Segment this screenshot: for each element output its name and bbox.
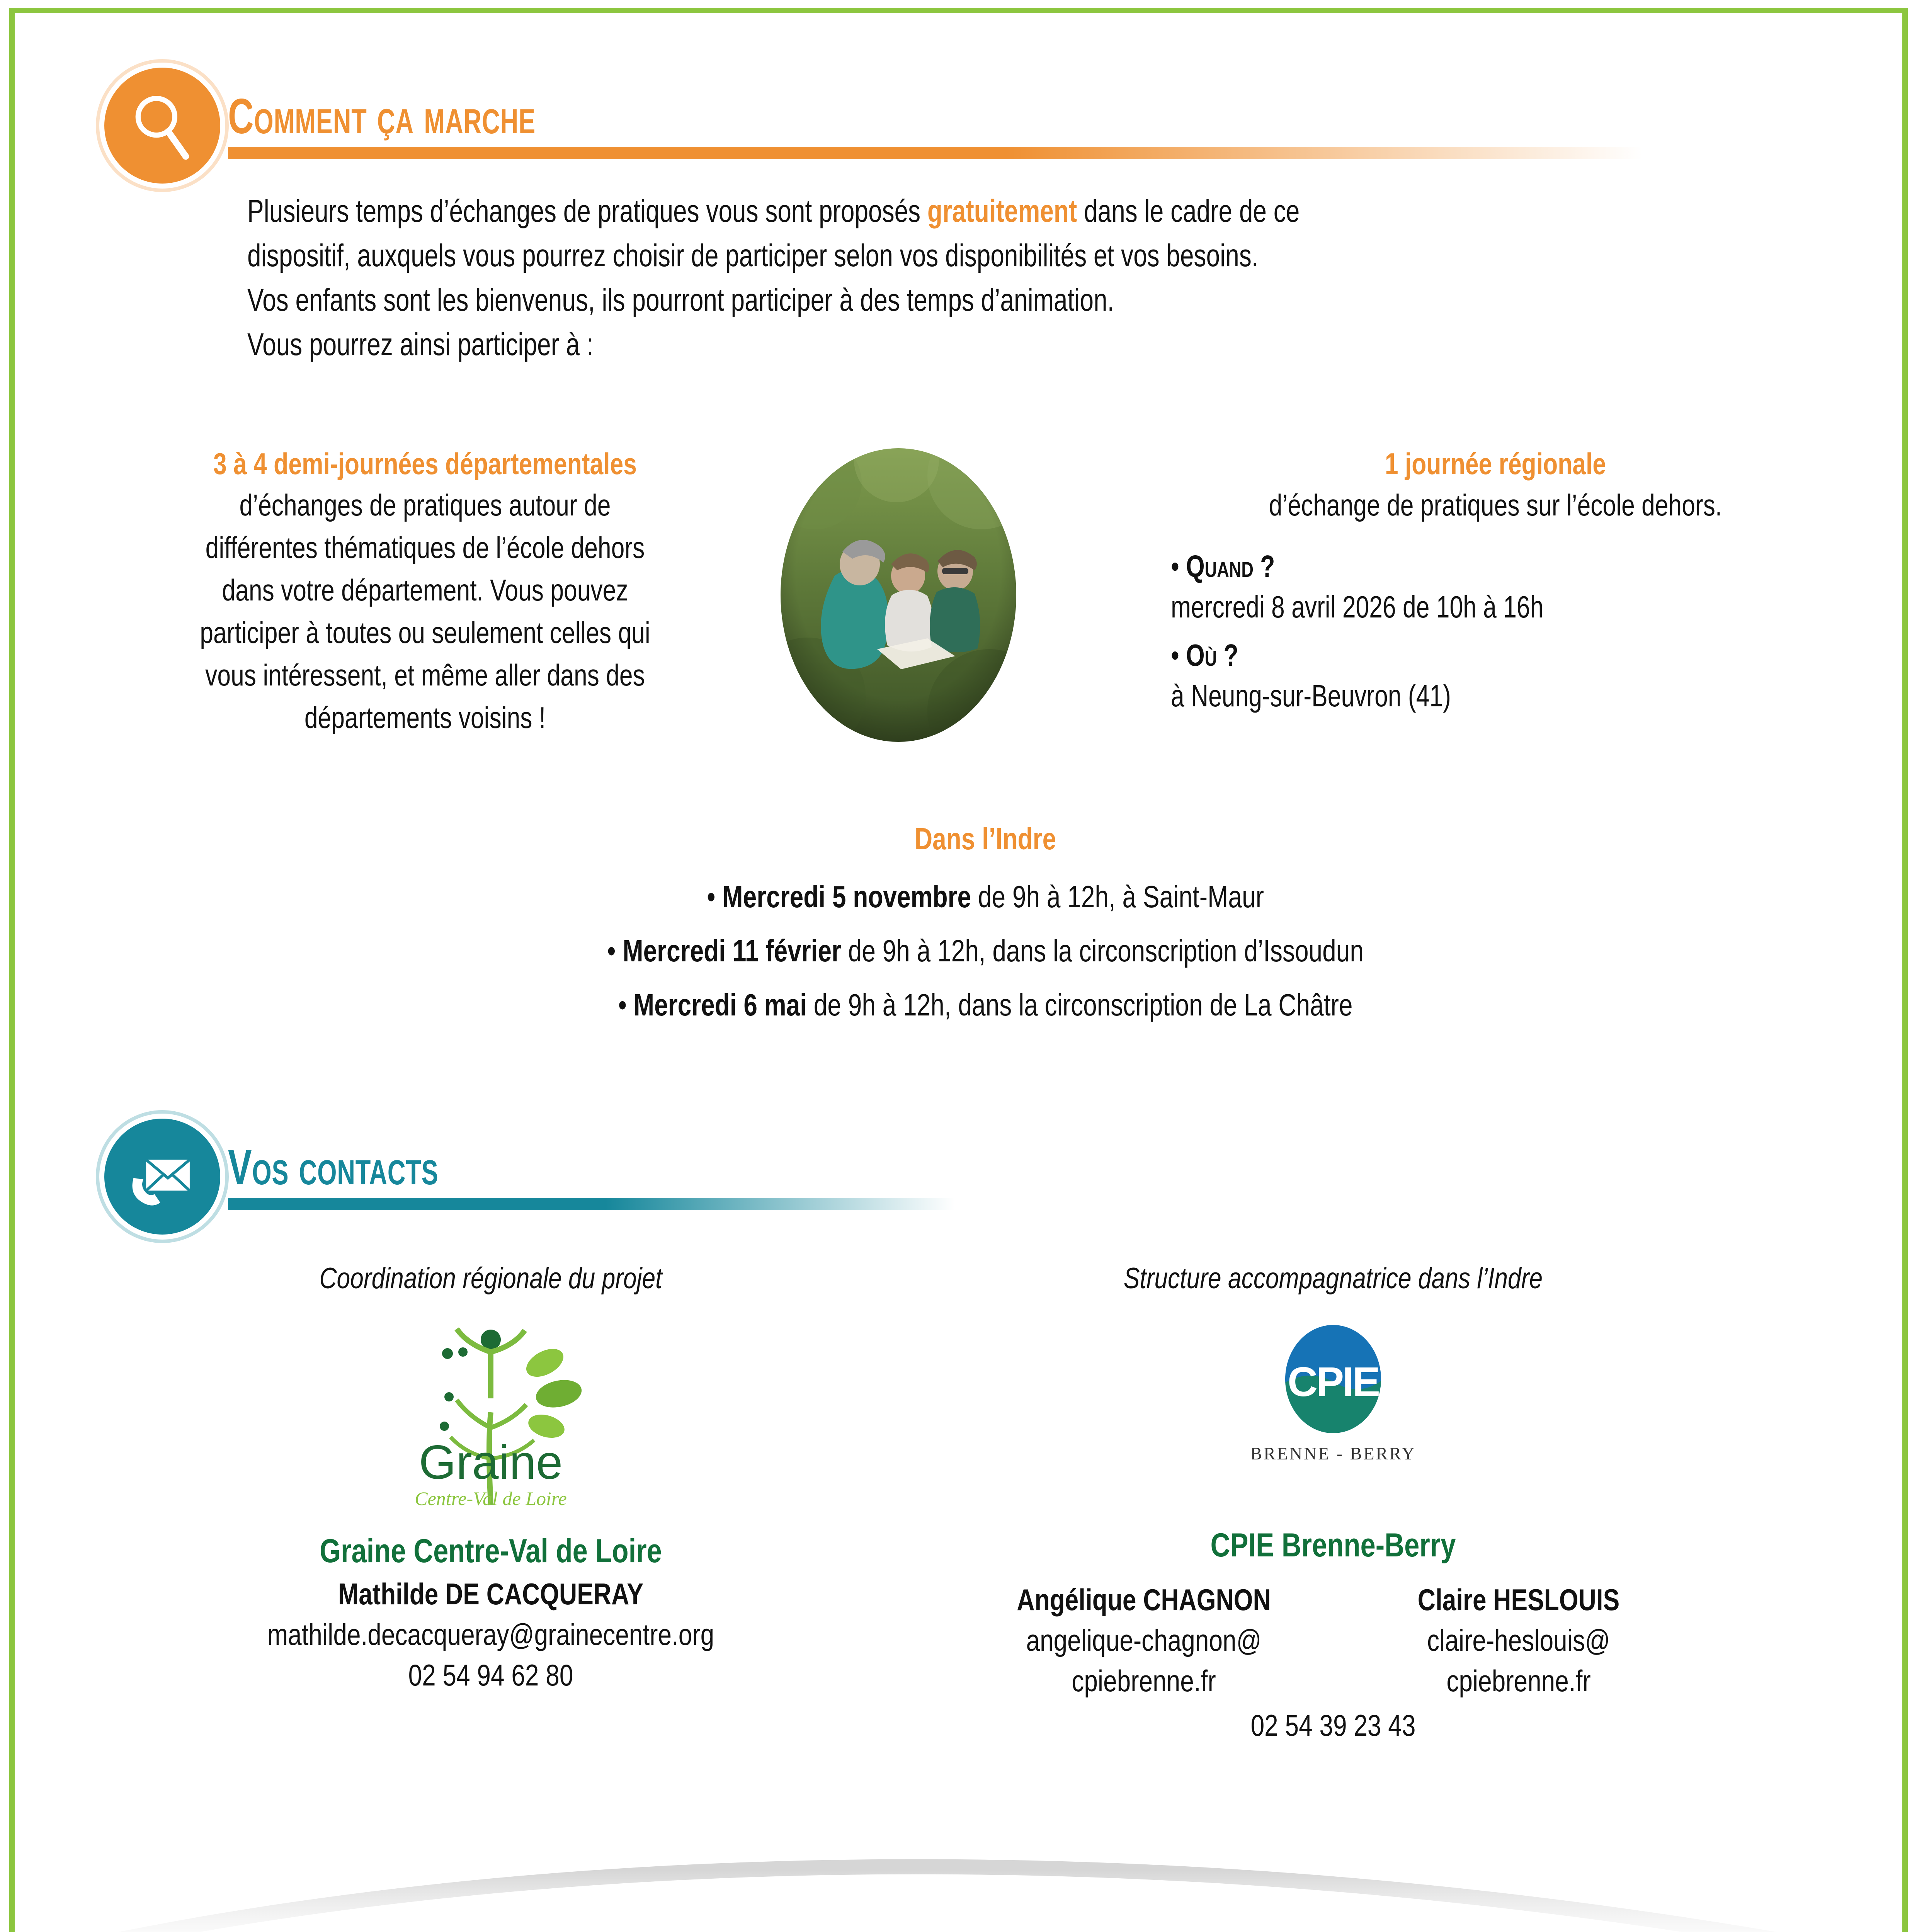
- left-block-line-5: départements voisins !: [304, 700, 546, 735]
- contacts-left-person-email[interactable]: mathilde.decacqueray@grainecentre.org: [267, 1617, 714, 1652]
- contacts-right-person-0-email-line2[interactable]: cpiebrenne.fr: [1072, 1663, 1216, 1699]
- contacts-left-role: Coordination régionale du projet: [320, 1262, 662, 1295]
- cpie-brenne-berry-logo: CPIE BRENNE - BERRY: [1233, 1321, 1434, 1488]
- right-block-item-1-label: • Où ?: [1171, 638, 1238, 673]
- page-border-right: [1902, 8, 1908, 1932]
- right-block-item-1-value: à Neung-sur-Beuvron (41): [1171, 678, 1451, 714]
- bullet-icon: •: [1171, 549, 1186, 583]
- svg-text:BRENNE - BERRY: BRENNE - BERRY: [1252, 1444, 1414, 1463]
- left-block-line-1: différentes thématiques de l’école dehor…: [206, 530, 645, 565]
- intro-line-1-after: dans le cadre de ce: [1077, 194, 1300, 229]
- svg-text:Graine: Graine: [419, 1436, 563, 1489]
- right-block-heading: 1 journée régionale: [1385, 446, 1606, 481]
- contacts-right-person-1-email-line2[interactable]: cpiebrenne.fr: [1446, 1663, 1590, 1699]
- bullet-icon: •: [707, 879, 722, 914]
- contacts-left-person-name: Mathilde DE CACQUERAY: [338, 1577, 643, 1612]
- page-border-top: [9, 8, 1908, 13]
- intro-line-4: Vous pourrez ainsi participer à :: [247, 327, 594, 363]
- children-outdoor-activity-photo: [781, 448, 1016, 742]
- contacts-right-person-0-name: Angélique CHAGNON: [1017, 1582, 1271, 1617]
- left-block-heading: 3 à 4 demi-journées départementales: [213, 446, 637, 481]
- svg-text:CPIE: CPIE: [1288, 1358, 1379, 1405]
- envelope-phone-icon: [104, 1119, 220, 1235]
- contacts-right-phone: 02 54 39 23 43: [1251, 1708, 1416, 1743]
- indre-heading: Dans l’Indre: [915, 821, 1056, 857]
- right-block-item-0-value: mercredi 8 avril 2026 de 10h à 16h: [1171, 589, 1543, 625]
- section-rule-teal: [228, 1198, 954, 1210]
- graine-centre-val-de-loire-logo: Graine Centre-Val de Loire: [367, 1310, 614, 1515]
- left-block-line-0: d’échanges de pratiques autour de: [240, 488, 611, 523]
- section-header-contacts: Vos contacts: [104, 1119, 1001, 1235]
- intro-line-2: dispositif, auxquels vous pourrez choisi…: [247, 238, 1259, 274]
- page-border-left: [9, 8, 15, 1932]
- right-block-item-0-label: • Quand ?: [1171, 549, 1275, 584]
- section-title-how-it-works: Comment ça marche: [228, 92, 1285, 141]
- contacts-right-role: Structure accompagnatrice dans l’Indre: [1124, 1262, 1543, 1295]
- left-block-line-4: vous intéressent, et même aller dans des: [205, 658, 645, 693]
- indre-date-2: • Mercredi 6 mai de 9h à 12h, dans la ci…: [618, 987, 1353, 1023]
- section-header-how-it-works: Comment ça marche: [104, 68, 1696, 184]
- contacts-right-org: CPIE Brenne-Berry: [1211, 1526, 1456, 1565]
- left-block-line-2: dans votre département. Vous pouvez: [222, 573, 628, 608]
- svg-text:Centre-Val de Loire: Centre-Val de Loire: [415, 1488, 566, 1509]
- intro-line-3: Vos enfants sont les bienvenus, ils pour…: [247, 282, 1114, 318]
- indre-date-1: • Mercredi 11 février de 9h à 12h, dans …: [607, 933, 1364, 969]
- intro-line-1: Plusieurs temps d’échanges de pratiques …: [247, 193, 1300, 230]
- magnifier-icon: [104, 68, 220, 184]
- contacts-right-person-1-name: Claire HESLOUIS: [1418, 1582, 1619, 1617]
- contacts-left-org: Graine Centre-Val de Loire: [320, 1532, 662, 1570]
- contacts-left-phone: 02 54 94 62 80: [408, 1658, 573, 1693]
- contacts-right-person-0-email-line1[interactable]: angelique-chagnon@: [1026, 1623, 1261, 1658]
- left-block-line-3: participer à toutes ou seulement celles …: [200, 615, 650, 650]
- contacts-right-person-1-email-line1[interactable]: claire-heslouis@: [1427, 1623, 1610, 1658]
- bullet-icon: •: [1171, 638, 1186, 672]
- indre-date-0: • Mercredi 5 novembre de 9h à 12h, à Sai…: [707, 879, 1264, 915]
- bullet-icon: •: [607, 934, 623, 968]
- decorative-swoosh: [15, 1839, 1902, 1932]
- section-title-contacts: Vos contacts: [228, 1143, 784, 1192]
- right-block-subtitle: d’échange de pratiques sur l’école dehor…: [1269, 488, 1722, 523]
- section-rule-orange: [228, 147, 1642, 159]
- intro-line-1-before: Plusieurs temps d’échanges de pratiques …: [247, 194, 927, 229]
- bullet-icon: •: [618, 988, 634, 1022]
- intro-highlight-gratuitement: gratuitement: [927, 194, 1077, 229]
